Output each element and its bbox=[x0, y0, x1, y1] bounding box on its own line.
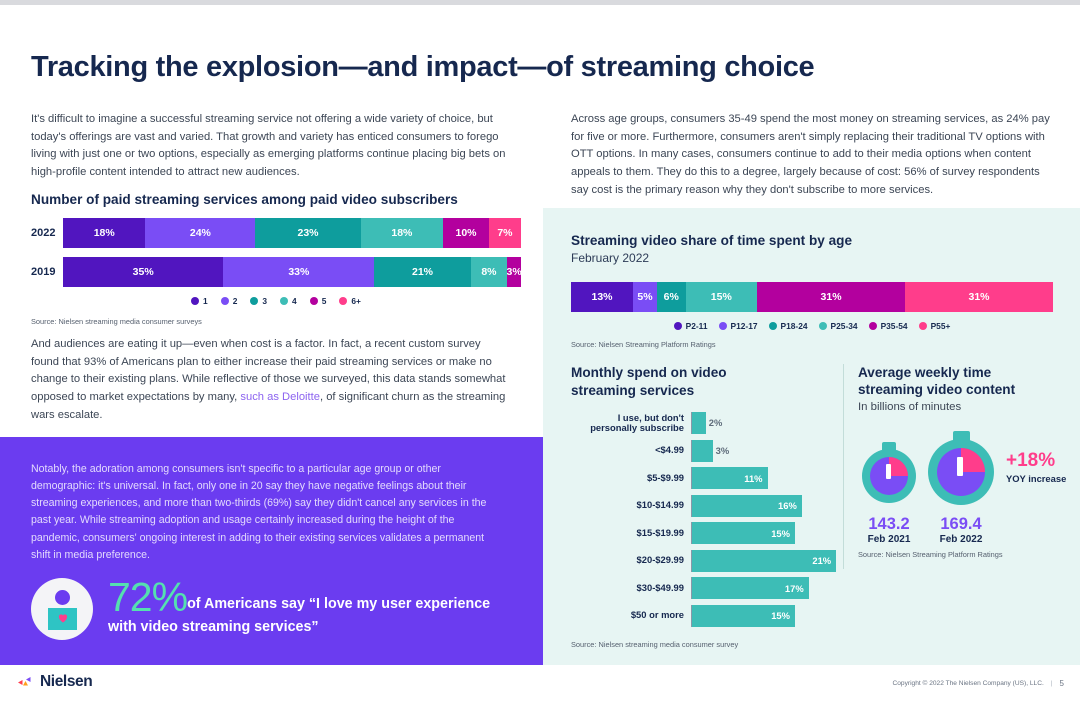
person-head-shape bbox=[55, 590, 70, 605]
stack-segment: 24% bbox=[145, 218, 255, 248]
bar-fill: 17% bbox=[692, 577, 809, 599]
page-title: Tracking the explosion—and impact—of str… bbox=[31, 50, 1031, 84]
nielsen-mark-icon bbox=[18, 675, 35, 690]
copyright-text: Copyright © 2022 The Nielsen Company (US… bbox=[892, 680, 1043, 687]
value-date: Feb 2022 bbox=[926, 534, 996, 545]
legend-item: P2-11 bbox=[674, 321, 708, 331]
legend-swatch-icon bbox=[221, 297, 229, 305]
stopwatch-icon-2021 bbox=[862, 449, 916, 503]
legend-label: 3 bbox=[262, 296, 267, 306]
legend-swatch-icon bbox=[310, 297, 318, 305]
stack-segment: 18% bbox=[361, 218, 443, 248]
stopwatch-face bbox=[937, 448, 985, 496]
yoy-label: YOY increase bbox=[1006, 473, 1066, 484]
legend-item: P35-54 bbox=[869, 321, 908, 331]
legend-swatch-icon bbox=[191, 297, 199, 305]
stack-segment: 7% bbox=[489, 218, 521, 248]
bar-track: 15% bbox=[691, 522, 843, 544]
chart-legend: 123456+ bbox=[31, 296, 521, 306]
bar-label: <$4.99 bbox=[571, 445, 691, 456]
bar-label: $20-$29.99 bbox=[571, 555, 691, 566]
legend-item: P12-17 bbox=[719, 321, 758, 331]
bar-value-label: 17% bbox=[785, 583, 809, 594]
legend-item: 3 bbox=[250, 296, 267, 306]
deloitte-link[interactable]: such as Deloitte bbox=[240, 391, 320, 403]
bar-track: 2% bbox=[691, 412, 843, 434]
legend-item: 1 bbox=[191, 296, 208, 306]
legend-label: 5 bbox=[322, 296, 327, 306]
chart-title-line1: Average weekly time bbox=[858, 364, 1073, 381]
bar-label: I use, but don'tpersonally subscribe bbox=[571, 413, 691, 435]
heart-icon bbox=[57, 612, 69, 624]
stack-segment: 31% bbox=[757, 282, 905, 312]
yoy-percentage: +18% bbox=[1006, 451, 1066, 470]
legend-item: 4 bbox=[280, 296, 297, 306]
stacked-row-2022: 2022 18%24%23%18%10%7% bbox=[31, 218, 521, 248]
stack-segment: 13% bbox=[571, 282, 633, 312]
value-block-2021: 143.2 Feb 2021 bbox=[858, 515, 920, 545]
legend-swatch-icon bbox=[674, 322, 682, 330]
stack-segment: 23% bbox=[255, 218, 360, 248]
value-number: 169.4 bbox=[926, 515, 996, 533]
bar-row: $5-$9.9911% bbox=[571, 467, 843, 489]
legend-label: P35-54 bbox=[881, 321, 908, 331]
bar-row: <$4.993% bbox=[571, 440, 843, 462]
legend-swatch-icon bbox=[250, 297, 258, 305]
legend-label: P55+ bbox=[931, 321, 951, 331]
bar-row: $50 or more15% bbox=[571, 605, 843, 627]
legend-swatch-icon bbox=[769, 322, 777, 330]
bar-track: 11% bbox=[691, 467, 843, 489]
bar-track: 21% bbox=[691, 550, 843, 572]
separator: | bbox=[1051, 680, 1053, 687]
stopwatch-face bbox=[870, 457, 908, 495]
legend-item: P18-24 bbox=[769, 321, 808, 331]
legend-label: 6+ bbox=[351, 296, 361, 306]
bar-fill: 16% bbox=[692, 495, 802, 517]
bar-rows-container: I use, but don'tpersonally subscribe2%<$… bbox=[571, 412, 843, 627]
nielsen-wordmark: Nielsen bbox=[40, 673, 92, 691]
stopwatch-hand bbox=[886, 464, 891, 479]
bar-fill bbox=[692, 440, 713, 462]
stack-segment: 10% bbox=[443, 218, 489, 248]
slide-page: Tracking the explosion—and impact—of str… bbox=[0, 5, 1080, 665]
nielsen-logo: Nielsen bbox=[18, 673, 92, 691]
bar-label: $10-$14.99 bbox=[571, 500, 691, 511]
intro-paragraph-left: It's difficult to imagine a successful s… bbox=[31, 111, 516, 182]
stopwatch-comparison: +18% YOY increase 143.2 Feb 2021 169.4 F… bbox=[858, 437, 1073, 517]
bar-row: $30-$49.9917% bbox=[571, 577, 843, 599]
bar-track: 15% bbox=[691, 605, 843, 627]
copyright-block: Copyright © 2022 The Nielsen Company (US… bbox=[892, 679, 1064, 688]
callout-panel: Notably, the adoration among consumers i… bbox=[0, 437, 543, 670]
bar-value-label: 15% bbox=[771, 528, 795, 539]
page-number: 5 bbox=[1060, 679, 1064, 688]
bar-value-label: 2% bbox=[709, 417, 723, 428]
legend-swatch-icon bbox=[819, 322, 827, 330]
legend-swatch-icon bbox=[280, 297, 288, 305]
stack-segment: 33% bbox=[223, 257, 374, 287]
row-label-year: 2019 bbox=[31, 266, 63, 278]
stopwatch-ring bbox=[928, 439, 994, 505]
legend-label: 4 bbox=[292, 296, 297, 306]
chart-subtitle: In billions of minutes bbox=[858, 400, 1073, 415]
chart-title: Streaming video share of time spent by a… bbox=[571, 232, 1053, 249]
right-data-panel: Streaming video share of time spent by a… bbox=[543, 208, 1080, 670]
value-block-2022: 169.4 Feb 2022 bbox=[926, 515, 996, 545]
chart-title-line2: streaming services bbox=[571, 382, 843, 400]
page-footer: Nielsen Copyright © 2022 The Nielsen Com… bbox=[0, 665, 1080, 702]
bar-value-label: 16% bbox=[778, 500, 802, 511]
chart-monthly-spend: Monthly spend on video streaming service… bbox=[571, 364, 843, 649]
bar-row: $10-$14.9916% bbox=[571, 495, 843, 517]
legend-item: 6+ bbox=[339, 296, 361, 306]
intro-paragraph-right: Across age groups, consumers 35-49 spend… bbox=[571, 111, 1053, 199]
legend-label: P18-24 bbox=[781, 321, 808, 331]
legend-label: P12-17 bbox=[731, 321, 758, 331]
stacked-row-2019: 2019 35%33%21%8%3% bbox=[31, 257, 521, 287]
chart-title-line2: streaming video content bbox=[858, 381, 1073, 398]
stacked-bar: 13%5%6%15%31%31% bbox=[571, 282, 1053, 312]
legend-item: 5 bbox=[310, 296, 327, 306]
chart-source: Source: Nielsen streaming media consumer… bbox=[571, 640, 843, 649]
chart-legend: P2-11P12-17P18-24P25-34P35-54P55+ bbox=[571, 321, 1053, 331]
chart-source: Source: Nielsen streaming media consumer… bbox=[31, 317, 521, 326]
stack-segment: 35% bbox=[63, 257, 223, 287]
stopwatch-quadrant bbox=[889, 457, 908, 476]
bar-row: I use, but don'tpersonally subscribe2% bbox=[571, 412, 843, 434]
user-love-icon bbox=[31, 578, 93, 640]
legend-item: P25-34 bbox=[819, 321, 858, 331]
callout-paragraph: Notably, the adoration among consumers i… bbox=[31, 461, 503, 564]
value-number: 143.2 bbox=[858, 515, 920, 533]
bar-label: $5-$9.99 bbox=[571, 473, 691, 484]
stopwatch-icon-2022 bbox=[928, 439, 994, 505]
stat-highlight: 72%of Americans say “I love my user expe… bbox=[31, 576, 521, 640]
bar-value-label: 3% bbox=[716, 445, 730, 456]
bar-fill bbox=[692, 412, 706, 434]
bar-fill: 15% bbox=[692, 522, 795, 544]
bar-row: $15-$19.9915% bbox=[571, 522, 843, 544]
stack-segment: 3% bbox=[507, 257, 521, 287]
legend-swatch-icon bbox=[869, 322, 877, 330]
stack-segment: 15% bbox=[686, 282, 758, 312]
bar-label: $50 or more bbox=[571, 610, 691, 621]
legend-label: P25-34 bbox=[831, 321, 858, 331]
bar-fill: 21% bbox=[692, 550, 836, 572]
chart-title-line1: Monthly spend on video bbox=[571, 364, 843, 382]
stat-text-block: 72%of Americans say “I love my user expe… bbox=[108, 576, 490, 637]
row-label-year: 2022 bbox=[31, 227, 63, 239]
bar-fill: 11% bbox=[692, 467, 768, 489]
stack-segment: 21% bbox=[374, 257, 470, 287]
stopwatch-stem bbox=[882, 442, 896, 451]
stat-caption-line2: with video streaming services” bbox=[108, 618, 490, 637]
chart-title: Number of paid streaming services among … bbox=[31, 191, 521, 208]
bar-row: $20-$29.9921% bbox=[571, 550, 843, 572]
legend-swatch-icon bbox=[339, 297, 347, 305]
legend-label: 2 bbox=[233, 296, 238, 306]
chart-average-weekly-time: Average weekly time streaming video cont… bbox=[843, 364, 1073, 569]
stack-segment: 8% bbox=[471, 257, 508, 287]
bar-value-label: 21% bbox=[812, 555, 836, 566]
chart-share-of-time-by-age: Streaming video share of time spent by a… bbox=[571, 232, 1053, 349]
value-date: Feb 2021 bbox=[858, 534, 920, 545]
yoy-increase-annotation: +18% YOY increase bbox=[1006, 451, 1066, 484]
legend-label: 1 bbox=[203, 296, 208, 306]
bar-fill: 15% bbox=[692, 605, 795, 627]
bar-value-label: 11% bbox=[744, 473, 767, 484]
chart-paid-streaming-services: Number of paid streaming services among … bbox=[31, 191, 521, 326]
legend-swatch-icon bbox=[919, 322, 927, 330]
bar-track: 3% bbox=[691, 440, 843, 462]
legend-item: 2 bbox=[221, 296, 238, 306]
stopwatch-stem bbox=[953, 431, 970, 441]
stacked-bar: 35%33%21%8%3% bbox=[63, 257, 521, 287]
stopwatch-ring bbox=[862, 449, 916, 503]
bar-track: 16% bbox=[691, 495, 843, 517]
stack-segment: 18% bbox=[63, 218, 145, 248]
bar-label: $15-$19.99 bbox=[571, 528, 691, 539]
stopwatch-hand bbox=[957, 457, 963, 476]
stack-segment: 5% bbox=[633, 282, 657, 312]
legend-label: P2-11 bbox=[686, 321, 708, 331]
stack-segment: 31% bbox=[905, 282, 1053, 312]
stat-percentage: 72% bbox=[108, 578, 187, 617]
bar-track: 17% bbox=[691, 577, 843, 599]
stack-segment: 6% bbox=[657, 282, 686, 312]
chart-source: Source: Nielsen Streaming Platform Ratin… bbox=[571, 340, 1053, 349]
mid-paragraph-left: And audiences are eating it up—even when… bbox=[31, 336, 511, 424]
chart-subtitle: February 2022 bbox=[571, 251, 1053, 267]
legend-swatch-icon bbox=[719, 322, 727, 330]
stopwatch-quadrant bbox=[961, 448, 985, 472]
chart-source: Source: Nielsen Streaming Platform Ratin… bbox=[858, 550, 1003, 559]
bar-value-label: 15% bbox=[771, 610, 795, 621]
stacked-bar: 18%24%23%18%10%7% bbox=[63, 218, 521, 248]
bar-label: $30-$49.99 bbox=[571, 583, 691, 594]
stat-caption-line1: of Americans say “I love my user experie… bbox=[187, 596, 490, 612]
legend-item: P55+ bbox=[919, 321, 951, 331]
